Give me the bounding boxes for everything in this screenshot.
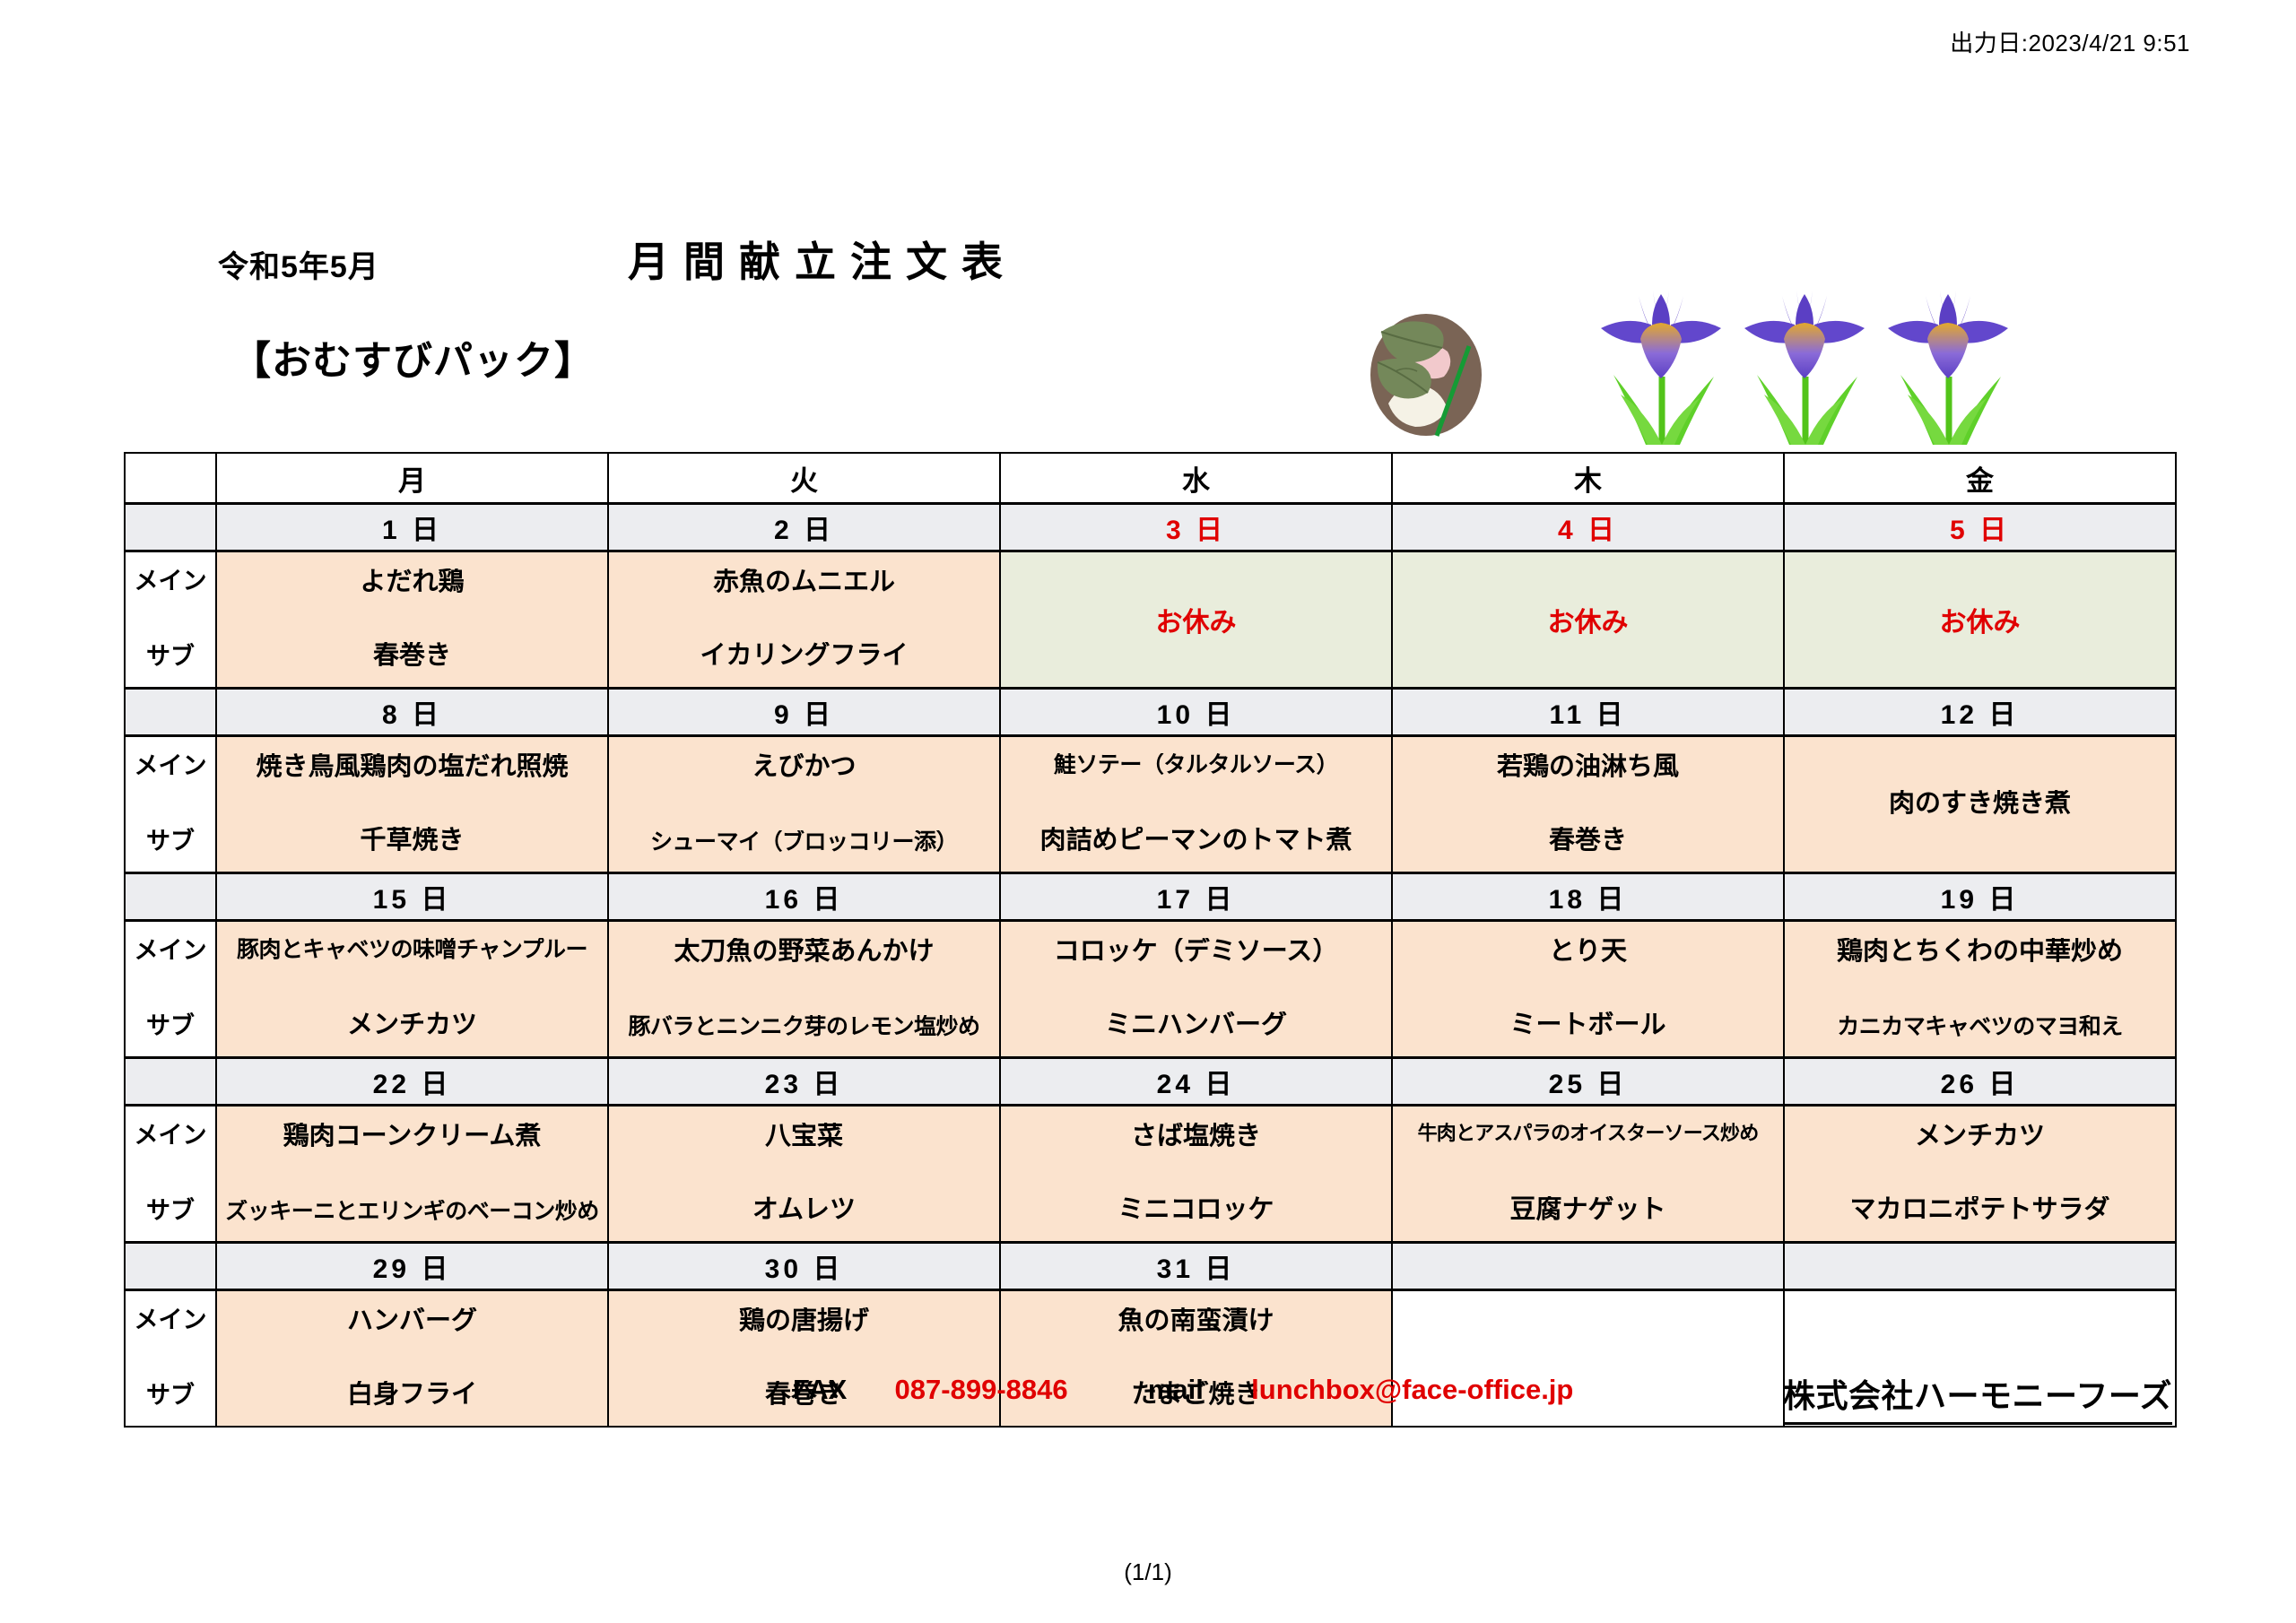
menu-sub-dish: イカリングフライ — [613, 642, 996, 669]
menu-main-dish: とり天 — [1396, 938, 1779, 965]
menu-main-dish: コロッケ（デミソース） — [1004, 938, 1387, 965]
date-cell: 31 日 — [1000, 1243, 1392, 1290]
row-label-main: メイン — [129, 1123, 212, 1148]
menu-row: メインサブ豚肉とキャベツの味噌チャンプルーメンチカツ太刀魚の野菜あんかけ豚バラと… — [125, 921, 2176, 1058]
date-cell: 2 日 — [608, 504, 1000, 551]
company-name: 株式会社ハーモニーフーズ — [1783, 1370, 2172, 1425]
date-cell: 15 日 — [216, 873, 608, 921]
holiday-cell: お休み — [1784, 551, 2176, 689]
menu-main-dish: 若鶏の油淋ち風 — [1396, 753, 1779, 780]
menu-main-dish: 肉のすき焼き煮 — [1788, 790, 2171, 817]
date-cell: 30 日 — [608, 1243, 1000, 1290]
menu-main-dish: 鶏肉とちくわの中華炒め — [1788, 938, 2171, 965]
fax-label: FAX — [793, 1374, 847, 1405]
row-label-sub: サブ — [129, 644, 212, 669]
menu-main-dish: 牛肉とアスパラのオイスターソース炒め — [1396, 1123, 1779, 1143]
date-cell — [1784, 1243, 2176, 1290]
date-cell: 25 日 — [1392, 1058, 1784, 1106]
weekday-header-2: 水 — [1000, 453, 1392, 504]
menu-cell[interactable]: メンチカツマカロニポテトサラダ — [1784, 1106, 2176, 1243]
menu-sub-dish: 肉詰めピーマンのトマト煮 — [1004, 827, 1387, 854]
menu-cell[interactable]: えびかつシューマイ（ブロッコリー添） — [608, 736, 1000, 873]
row-label-main: メイン — [129, 568, 212, 594]
menu-sub-dish: 春巻き — [1396, 827, 1779, 854]
menu-main-dish: 赤魚のムニエル — [613, 568, 996, 595]
monthly-menu-table: 月火水木金1 日2 日3 日4 日5 日メインサブよだれ鶏春巻き赤魚のムニエルイ… — [124, 452, 2177, 1428]
menu-sub-dish: ズッキーニとエリンギのベーコン炒め — [221, 1200, 604, 1223]
iris-flower-icon — [1870, 269, 2027, 448]
row-label-sub: サブ — [129, 829, 212, 854]
row-label-cell: メインサブ — [125, 1106, 216, 1243]
menu-row: メインサブ焼き鳥風鶏肉の塩だれ照焼千草焼きえびかつシューマイ（ブロッコリー添）鮭… — [125, 736, 2176, 873]
menu-sub-dish: マカロニポテトサラダ — [1788, 1196, 2171, 1223]
mail-label: mail — [1148, 1374, 1204, 1405]
date-cell: 24 日 — [1000, 1058, 1392, 1106]
date-cell: 5 日 — [1784, 504, 2176, 551]
menu-main-dish: 八宝菜 — [613, 1123, 996, 1150]
contact-line: FAX 087-899-8846 mail lunchbox@face-offi… — [793, 1374, 1573, 1406]
menu-sub-dish: シューマイ（ブロッコリー添） — [613, 830, 996, 854]
menu-main-dish: ハンバーグ — [221, 1307, 604, 1334]
menu-sub-dish: 豚バラとニンニク芽のレモン塩炒め — [613, 1015, 996, 1038]
date-cell: 17 日 — [1000, 873, 1392, 921]
menu-cell[interactable]: 牛肉とアスパラのオイスターソース炒め豆腐ナゲット — [1392, 1106, 1784, 1243]
row-label-main: メイン — [129, 1307, 212, 1332]
date-cell: 3 日 — [1000, 504, 1392, 551]
document-footer: FAX 087-899-8846 mail lunchbox@face-offi… — [0, 1367, 2296, 1429]
date-cell: 18 日 — [1392, 873, 1784, 921]
menu-main-dish: さば塩焼き — [1004, 1123, 1387, 1150]
menu-sub-dish: ミニハンバーグ — [1004, 1011, 1387, 1038]
row-label-sub: サブ — [129, 1013, 212, 1038]
menu-main-dish: 魚の南蛮漬け — [1004, 1307, 1387, 1334]
pack-name-label: 【おむすびパック】 — [231, 328, 595, 386]
date-cell — [1392, 1243, 1784, 1290]
menu-sub-dish: ミニコロッケ — [1004, 1196, 1387, 1223]
page-number: (1/1) — [0, 1558, 2296, 1586]
row-corner — [125, 689, 216, 736]
date-cell: 23 日 — [608, 1058, 1000, 1106]
date-cell: 29 日 — [216, 1243, 608, 1290]
menu-cell[interactable]: 太刀魚の野菜あんかけ豚バラとニンニク芽のレモン塩炒め — [608, 921, 1000, 1058]
date-cell: 1 日 — [216, 504, 608, 551]
corner-cell — [125, 453, 216, 504]
row-label-cell: メインサブ — [125, 736, 216, 873]
menu-cell[interactable]: 赤魚のムニエルイカリングフライ — [608, 551, 1000, 689]
menu-main-dish: えびかつ — [613, 753, 996, 780]
iris-flower-icon — [1583, 269, 1740, 448]
iris-flower-icon — [1726, 269, 1883, 448]
menu-sub-dish: 豆腐ナゲット — [1396, 1196, 1779, 1223]
menu-cell[interactable]: さば塩焼きミニコロッケ — [1000, 1106, 1392, 1243]
row-corner — [125, 504, 216, 551]
menu-cell[interactable]: 鮭ソテー（タルタルソース）肉詰めピーマンのトマト煮 — [1000, 736, 1392, 873]
date-cell: 8 日 — [216, 689, 608, 736]
menu-cell[interactable]: 肉のすき焼き煮 — [1784, 736, 2176, 873]
menu-row: メインサブよだれ鶏春巻き赤魚のムニエルイカリングフライお休みお休みお休み — [125, 551, 2176, 689]
weekday-header-1: 火 — [608, 453, 1000, 504]
menu-cell[interactable]: 鶏肉とちくわの中華炒めカニカマキャベツのマヨ和え — [1784, 921, 2176, 1058]
menu-sub-dish: 千草焼き — [221, 827, 604, 854]
row-corner — [125, 1243, 216, 1290]
weekday-header-3: 木 — [1392, 453, 1784, 504]
menu-main-dish: よだれ鶏 — [221, 568, 604, 595]
menu-main-dish: 焼き鳥風鶏肉の塩だれ照焼 — [221, 753, 604, 780]
era-month-label: 令和5年5月 — [218, 242, 379, 286]
menu-cell[interactable]: 鶏肉コーンクリーム煮ズッキーニとエリンギのベーコン炒め — [216, 1106, 608, 1243]
menu-cell[interactable]: コロッケ（デミソース）ミニハンバーグ — [1000, 921, 1392, 1058]
menu-cell[interactable]: 八宝菜オムレツ — [608, 1106, 1000, 1243]
menu-main-dish: メンチカツ — [1788, 1123, 2171, 1150]
date-cell: 9 日 — [608, 689, 1000, 736]
page-title: 月間献立注文表 — [628, 230, 1017, 289]
mail-address[interactable]: lunchbox@face-office.jp — [1251, 1374, 1573, 1405]
date-cell: 10 日 — [1000, 689, 1392, 736]
row-label-sub: サブ — [129, 1198, 212, 1223]
row-corner — [125, 873, 216, 921]
menu-cell[interactable]: 若鶏の油淋ち風春巻き — [1392, 736, 1784, 873]
menu-main-dish: 太刀魚の野菜あんかけ — [613, 938, 996, 965]
row-label-main: メイン — [129, 753, 212, 778]
date-row: 22 日23 日24 日25 日26 日 — [125, 1058, 2176, 1106]
date-cell: 19 日 — [1784, 873, 2176, 921]
date-cell: 4 日 — [1392, 504, 1784, 551]
menu-sub-dish: メンチカツ — [221, 1011, 604, 1038]
menu-row: メインサブ鶏肉コーンクリーム煮ズッキーニとエリンギのベーコン炒め八宝菜オムレツさ… — [125, 1106, 2176, 1243]
menu-main-dish: 鶏肉コーンクリーム煮 — [221, 1123, 604, 1150]
menu-main-dish: 豚肉とキャベツの味噌チャンプルー — [221, 938, 604, 961]
menu-cell[interactable]: 焼き鳥風鶏肉の塩だれ照焼千草焼き — [216, 736, 608, 873]
date-row: 1 日2 日3 日4 日5 日 — [125, 504, 2176, 551]
row-label-cell: メインサブ — [125, 551, 216, 689]
row-label-main: メイン — [129, 938, 212, 963]
kashiwamochi-icon — [1354, 296, 1498, 439]
date-cell: 16 日 — [608, 873, 1000, 921]
menu-sub-dish: カニカマキャベツのマヨ和え — [1788, 1015, 2171, 1038]
weekday-header-4: 金 — [1784, 453, 2176, 504]
fax-number: 087-899-8846 — [895, 1374, 1068, 1405]
seasonal-illustrations — [1336, 269, 2135, 448]
print-date: 出力日:2023/4/21 9:51 — [1950, 25, 2190, 58]
date-row: 15 日16 日17 日18 日19 日 — [125, 873, 2176, 921]
menu-cell[interactable]: とり天ミートボール — [1392, 921, 1784, 1058]
holiday-cell: お休み — [1392, 551, 1784, 689]
weekday-header-row: 月火水木金 — [125, 453, 2176, 504]
date-cell: 12 日 — [1784, 689, 2176, 736]
date-cell: 11 日 — [1392, 689, 1784, 736]
date-row: 8 日9 日10 日11 日12 日 — [125, 689, 2176, 736]
menu-main-dish: 鮭ソテー（タルタルソース） — [1004, 753, 1387, 777]
date-cell: 26 日 — [1784, 1058, 2176, 1106]
holiday-cell: お休み — [1000, 551, 1392, 689]
date-row: 29 日30 日31 日 — [125, 1243, 2176, 1290]
menu-cell[interactable]: よだれ鶏春巻き — [216, 551, 608, 689]
weekday-header-0: 月 — [216, 453, 608, 504]
menu-main-dish: 鶏の唐揚げ — [613, 1307, 996, 1334]
menu-sub-dish: オムレツ — [613, 1196, 996, 1223]
menu-sub-dish: ミートボール — [1396, 1011, 1779, 1038]
row-label-cell: メインサブ — [125, 921, 216, 1058]
menu-cell[interactable]: 豚肉とキャベツの味噌チャンプルーメンチカツ — [216, 921, 608, 1058]
date-cell: 22 日 — [216, 1058, 608, 1106]
row-corner — [125, 1058, 216, 1106]
menu-sub-dish: 春巻き — [221, 642, 604, 669]
menu-order-sheet-page: 出力日:2023/4/21 9:51 令和5年5月 月間献立注文表 【おむすびパ… — [0, 0, 2296, 1623]
